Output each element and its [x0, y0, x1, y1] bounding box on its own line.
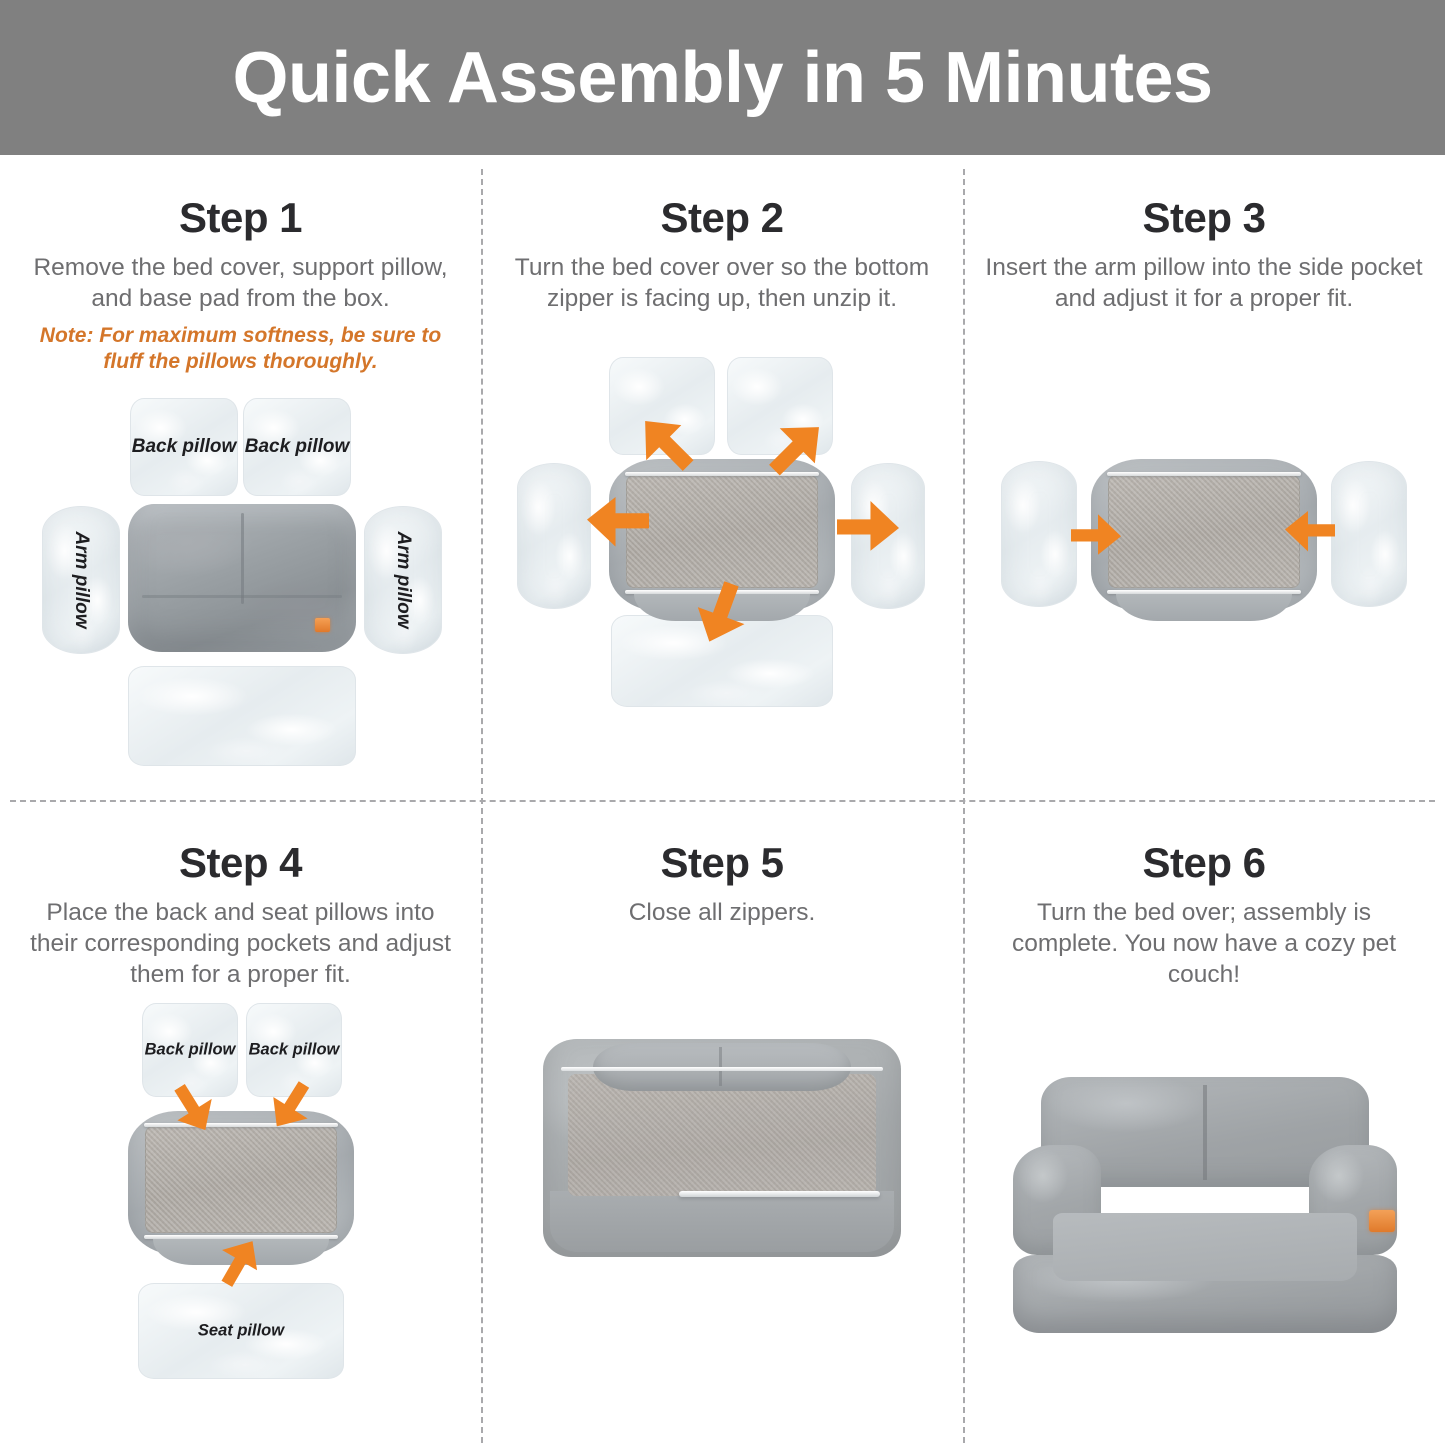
arm-pillow-right-label: Arm pillow — [392, 531, 414, 628]
cover-flap — [1116, 594, 1292, 621]
step-1-illustration: Back pillow Back pillow Arm pillow Arm p… — [0, 376, 481, 800]
back-pillow-right-label: Back pillow — [245, 436, 350, 458]
page-title: Quick Assembly in 5 Minutes — [232, 42, 1212, 114]
assembled-bed-flipped — [543, 1039, 901, 1257]
step-3-illustration — [963, 315, 1445, 800]
back-pillow-left-label: Back pillow — [132, 436, 237, 458]
step-3-title: Step 3 — [1142, 197, 1265, 239]
bed-cover-unzipped — [1091, 459, 1317, 611]
arm-pillow-left — [1001, 461, 1077, 607]
arm-pillow-right: Arm pillow — [364, 506, 442, 654]
steps-grid: Step 1 Remove the bed cover, support pil… — [0, 155, 1445, 1443]
step-panel-3: Step 3 Insert the arm pillow into the si… — [963, 155, 1445, 800]
cover-seam — [142, 595, 343, 598]
bed-fabric-panel — [568, 1074, 876, 1196]
back-pillow-left: Back pillow — [142, 1003, 238, 1097]
header-banner: Quick Assembly in 5 Minutes — [0, 0, 1445, 155]
step-panel-1: Step 1 Remove the bed cover, support pil… — [0, 155, 481, 800]
step-2-description: Turn the bed cover over so the bottom zi… — [500, 253, 943, 315]
cover-liner — [145, 1126, 337, 1233]
back-pillow-left: Back pillow — [130, 398, 238, 496]
cover-liner — [1108, 475, 1300, 587]
step-1-title: Step 1 — [179, 197, 302, 239]
back-pillow-right: Back pillow — [246, 1003, 342, 1097]
step-2-title: Step 2 — [660, 197, 783, 239]
back-pillow-left-label: Back pillow — [145, 1040, 236, 1059]
base-pad — [128, 666, 356, 766]
bed-hem — [561, 1067, 883, 1071]
zipper-top — [625, 472, 819, 476]
seat-pillow-label: Seat pillow — [198, 1321, 284, 1340]
bed-zipper — [679, 1191, 879, 1197]
step-panel-5: Step 5 Close all zippers. — [481, 800, 963, 1443]
step-4-illustration: Back pillow Back pillow Seat pillow — [0, 991, 481, 1443]
assembly-infographic: Quick Assembly in 5 Minutes Step 1 Remov… — [0, 0, 1445, 1443]
step-1-description: Remove the bed cover, support pillow, an… — [19, 253, 462, 315]
step-panel-4: Step 4 Place the back and seat pillows i… — [0, 800, 481, 1443]
step-5-title: Step 5 — [660, 842, 783, 884]
step-6-description: Turn the bed over; assembly is complete.… — [982, 898, 1425, 991]
brand-tag-icon — [1369, 1210, 1395, 1232]
cover-liner — [626, 475, 818, 587]
arm-pillow-left — [517, 463, 591, 609]
step-panel-6: Step 6 Turn the bed over; assembly is co… — [963, 800, 1445, 1443]
step-6-illustration — [963, 991, 1445, 1443]
step-panel-2: Step 2 Turn the bed cover over so the bo… — [481, 155, 963, 800]
arm-pillow-left-label: Arm pillow — [70, 531, 92, 628]
step-4-description: Place the back and seat pillows into the… — [19, 898, 462, 991]
step-2-illustration — [481, 315, 963, 800]
seat-pillow: Seat pillow — [138, 1283, 344, 1379]
step-5-description: Close all zippers. — [500, 898, 943, 929]
step-4-title: Step 4 — [179, 842, 302, 884]
step-6-title: Step 6 — [1142, 842, 1265, 884]
step-1-note: Note: For maximum softness, be sure to f… — [29, 323, 452, 376]
zipper-top — [144, 1123, 338, 1127]
back-pillow-right: Back pillow — [243, 398, 351, 496]
arm-pillow-right — [1331, 461, 1407, 607]
brand-tag-icon — [315, 618, 330, 632]
zipper-top — [1107, 472, 1301, 476]
finished-pet-couch — [1005, 1077, 1405, 1339]
bed-cover-plush — [128, 504, 356, 652]
arm-pillow-left: Arm pillow — [42, 506, 120, 654]
step-5-illustration — [481, 929, 963, 1443]
back-pillow-right-label: Back pillow — [249, 1040, 340, 1059]
bed-cover-unzipped — [128, 1111, 354, 1255]
bed-bottom-band — [550, 1191, 894, 1252]
couch-seat — [1053, 1213, 1357, 1281]
step-3-description: Insert the arm pillow into the side pock… — [982, 253, 1425, 315]
